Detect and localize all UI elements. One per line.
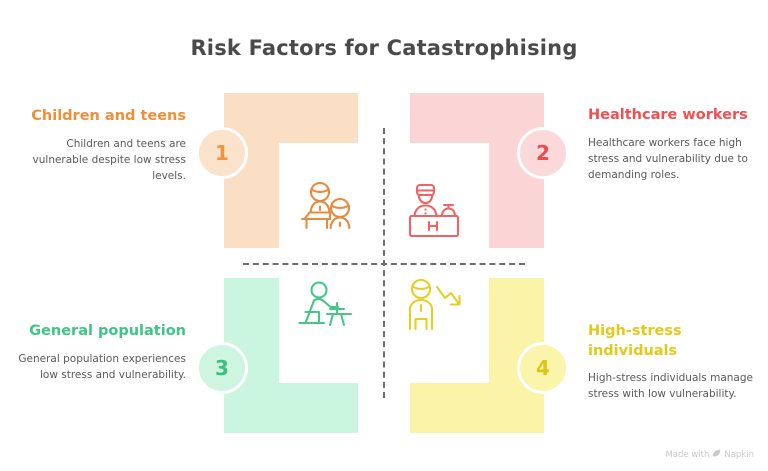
block-4-horizontal-bar <box>410 383 544 433</box>
quadrant-number-3: 3 <box>215 356 229 380</box>
person-seated-at-table-icon <box>297 281 357 341</box>
quadrant-text-2: Healthcare workers Healthcare workers fa… <box>588 106 764 183</box>
quadrant-number-1: 1 <box>215 141 229 165</box>
quadrant-number-badge-3[interactable]: 3 <box>196 342 248 394</box>
quadrant-body-3: General population experiences low stres… <box>10 351 186 384</box>
quadrant-number-4: 4 <box>536 356 550 380</box>
infographic-canvas: Risk Factors for Catastrophising <box>0 0 768 471</box>
quadrant-number-badge-1[interactable]: 1 <box>196 127 248 179</box>
person-with-declining-arrow-icon <box>406 279 468 337</box>
quadrant-diagram <box>208 93 560 433</box>
quadrant-heading-3: General population <box>10 322 186 342</box>
teacher-and-student-icon <box>296 179 360 247</box>
quadrant-text-4: High-stress individuals High-stress indi… <box>588 322 764 403</box>
watermark-prefix: Made with <box>665 450 709 460</box>
quadrant-heading-1: Children and teens <box>10 107 186 127</box>
watermark-brand: Napkin <box>724 450 754 460</box>
quadrant-number-badge-2[interactable]: 2 <box>517 127 569 179</box>
watermark: Made with Napkin <box>665 449 754 461</box>
page-title: Risk Factors for Catastrophising <box>0 36 768 60</box>
quadrant-text-1: Children and teens Children and teens ar… <box>10 107 186 184</box>
block-3-horizontal-bar <box>224 383 358 433</box>
napkin-leaf-icon <box>712 449 721 461</box>
hospital-reception-desk-icon <box>404 181 466 247</box>
quadrant-text-3: General population General population ex… <box>10 322 186 383</box>
quadrant-body-4: High-stress individuals manage stress wi… <box>588 370 764 403</box>
quadrant-number-2: 2 <box>536 141 550 165</box>
quadrant-number-badge-4[interactable]: 4 <box>517 342 569 394</box>
quadrant-body-1: Children and teens are vulnerable despit… <box>10 136 186 185</box>
divider-horizontal-dashed <box>243 263 525 265</box>
quadrant-heading-2: Healthcare workers <box>588 106 764 126</box>
quadrant-heading-4: High-stress individuals <box>588 322 764 361</box>
quadrant-body-2: Healthcare workers face high stress and … <box>588 135 764 184</box>
